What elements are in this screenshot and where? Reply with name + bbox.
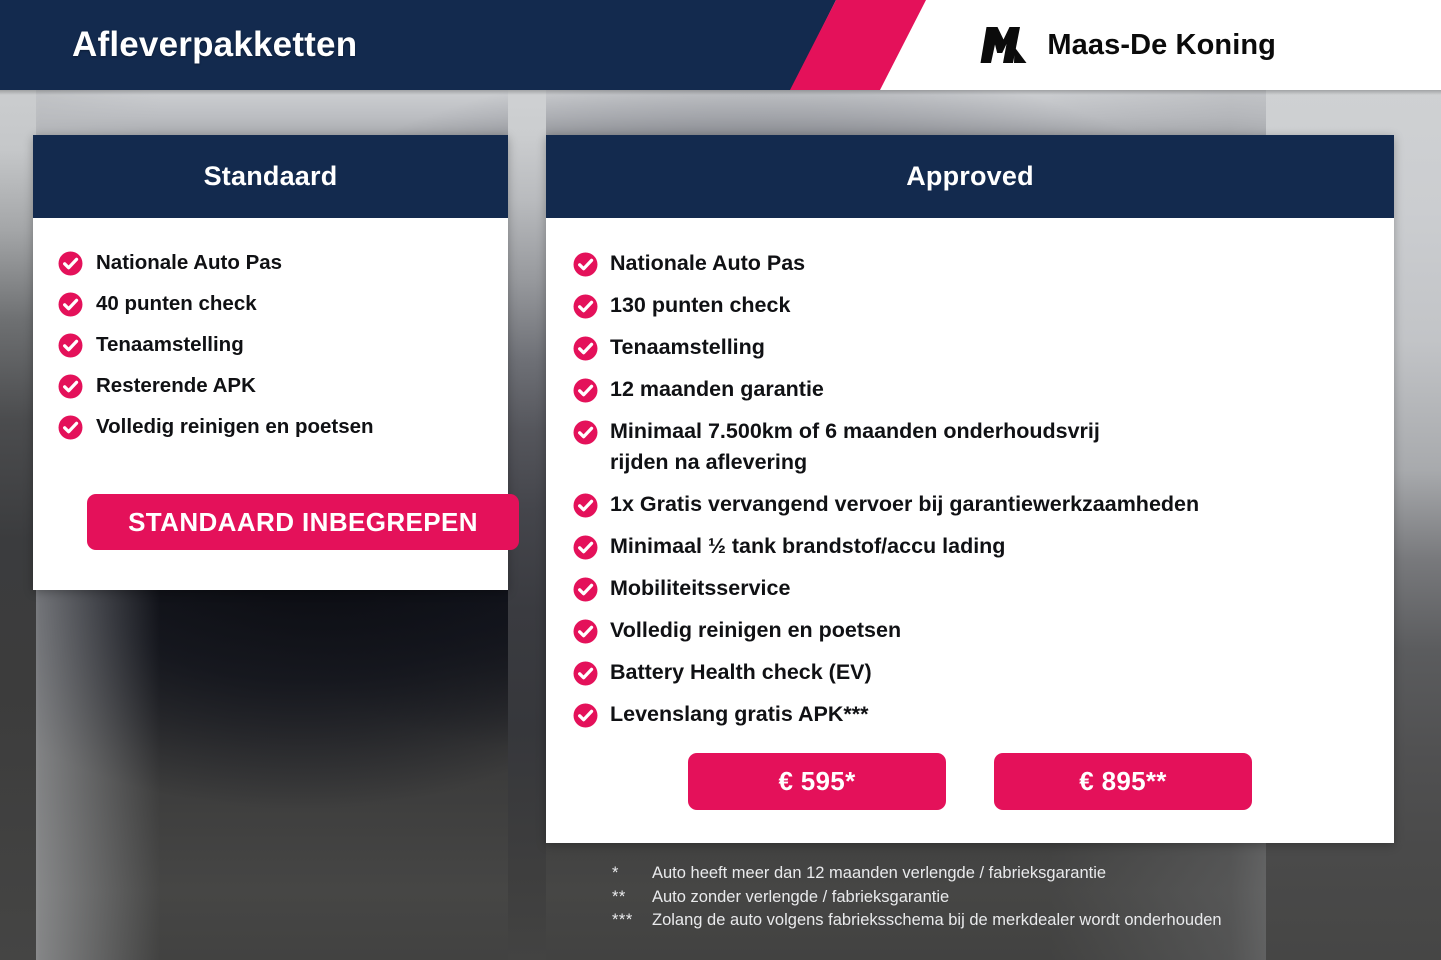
check-circle-icon [573,252,598,277]
feature-item: Levenslang gratis APK*** [573,699,1394,730]
feature-label: Tenaamstelling [96,330,244,360]
feature-label: Minimaal ½ tank brandstof/accu lading [610,531,1005,562]
feature-label: Resterende APK [96,371,256,401]
feature-item: Battery Health check (EV) [573,657,1394,688]
feature-item: Nationale Auto Pas [58,248,508,278]
page-title: Afleverpakketten [72,0,357,90]
footnote-marker: * [612,862,652,886]
feature-label: Mobiliteitsservice [610,573,790,604]
feature-list-standaard: Nationale Auto Pas40 punten checkTenaams… [33,218,508,442]
feature-item: 12 maanden garantie [573,374,1394,405]
poster-canvas: Afleverpakketten Maas-De Koning Standaar… [0,0,1441,960]
price-button-2[interactable]: € 895** [994,753,1252,810]
feature-item: Volledig reinigen en poetsen [58,412,508,442]
check-circle-icon [58,415,83,440]
feature-item: 130 punten check [573,290,1394,321]
check-circle-icon [58,374,83,399]
feature-item: Tenaamstelling [573,332,1394,363]
feature-item: 40 punten check [58,289,508,319]
check-circle-icon [573,577,598,602]
feature-label: Tenaamstelling [610,332,765,363]
feature-item: Minimaal ½ tank brandstof/accu lading [573,531,1394,562]
standaard-included-button[interactable]: STANDAARD INBEGREPEN [87,494,519,550]
feature-item: 1x Gratis vervangend vervoer bij garanti… [573,489,1394,520]
background-left-edge [0,90,36,960]
card-body-approved: Nationale Auto Pas130 punten checkTenaam… [546,218,1394,730]
feature-label: 130 punten check [610,290,790,321]
feature-item: Mobiliteitsservice [573,573,1394,604]
feature-label: 40 punten check [96,289,257,319]
footnote-text: Auto heeft meer dan 12 maanden verlengde… [652,862,1106,886]
card-title-approved: Approved [546,135,1394,218]
feature-item: Nationale Auto Pas [573,248,1394,279]
footnote-marker: ** [612,886,652,910]
feature-item: Minimaal 7.500km of 6 maanden onderhouds… [573,416,1394,478]
feature-label: Volledig reinigen en poetsen [96,412,374,442]
feature-label: 1x Gratis vervangend vervoer bij garanti… [610,489,1199,520]
feature-label: 12 maanden garantie [610,374,824,405]
feature-list-approved: Nationale Auto Pas130 punten checkTenaam… [546,218,1394,730]
package-card-approved: Approved Nationale Auto Pas130 punten ch… [546,135,1394,843]
maas-de-koning-m-logo-icon [976,25,1030,65]
feature-label: Nationale Auto Pas [610,248,805,279]
feature-label: Levenslang gratis APK*** [610,699,868,730]
footnote-text: Zolang de auto volgens fabrieksschema bi… [652,909,1222,933]
check-circle-icon [573,535,598,560]
price-button-row: € 595*€ 895** [546,753,1394,810]
check-circle-icon [573,336,598,361]
check-circle-icon [573,294,598,319]
footnote-row: ***Zolang de auto volgens fabrieksschema… [612,909,1222,933]
page-header: Afleverpakketten Maas-De Koning [0,0,1441,90]
check-circle-icon [573,420,598,445]
check-circle-icon [58,292,83,317]
check-circle-icon [573,378,598,403]
check-circle-icon [58,251,83,276]
feature-label: Volledig reinigen en poetsen [610,615,901,646]
check-circle-icon [573,703,598,728]
card-title-standaard: Standaard [33,135,508,218]
footnote-text: Auto zonder verlengde / fabrieksgarantie [652,886,949,910]
check-circle-icon [573,619,598,644]
footnotes: *Auto heeft meer dan 12 maanden verlengd… [612,862,1222,933]
footnote-row: *Auto heeft meer dan 12 maanden verlengd… [612,862,1222,886]
feature-item: Tenaamstelling [58,330,508,360]
price-button-1[interactable]: € 595* [688,753,946,810]
footnote-marker: *** [612,909,652,933]
feature-item: Resterende APK [58,371,508,401]
card-body-standaard: Nationale Auto Pas40 punten checkTenaams… [33,218,508,442]
check-circle-icon [573,493,598,518]
check-circle-icon [58,333,83,358]
package-card-standaard: Standaard Nationale Auto Pas40 punten ch… [33,135,508,590]
footnote-row: **Auto zonder verlengde / fabrieksgarant… [612,886,1222,910]
feature-label: Battery Health check (EV) [610,657,872,688]
feature-label: Minimaal 7.500km of 6 maanden onderhouds… [610,416,1100,478]
brand-name: Maas-De Koning [1047,29,1276,62]
feature-item: Volledig reinigen en poetsen [573,615,1394,646]
feature-label: Nationale Auto Pas [96,248,282,278]
header-drop-shadow [0,90,1441,95]
brand-lockup: Maas-De Koning [976,0,1276,90]
check-circle-icon [573,661,598,686]
